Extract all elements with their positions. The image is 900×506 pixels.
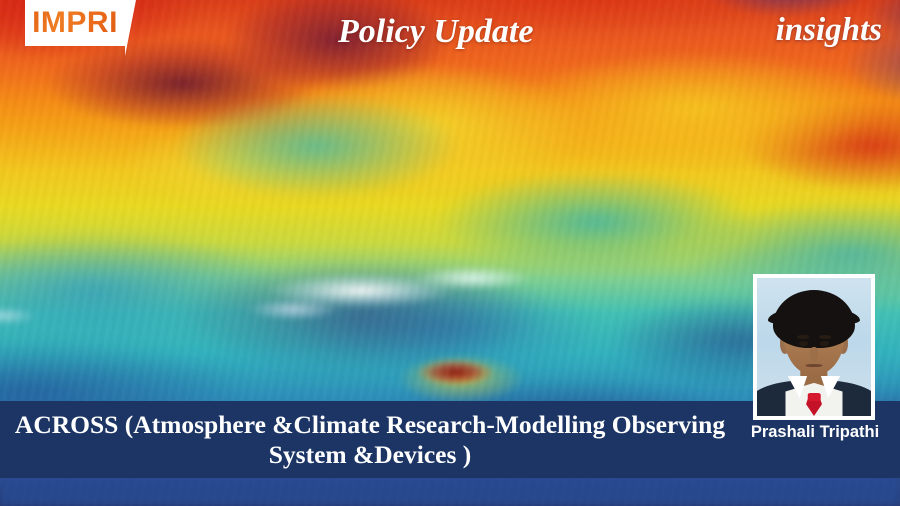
portrait-hair: [773, 290, 855, 348]
portrait-necktie-knot: [808, 393, 821, 401]
avatar: [757, 278, 871, 416]
portrait-eyebrow-left: [797, 335, 810, 339]
impri-logo-text: IMPRI: [25, 0, 125, 46]
page-title: Policy Update: [338, 13, 533, 51]
speech-bubble-tail-icon: [125, 0, 136, 56]
brand-label: insights: [776, 12, 882, 49]
portrait-nose: [810, 347, 818, 362]
portrait-eye-left: [799, 341, 808, 346]
banner-title: ACROSS (Atmosphere &Climate Research-Mod…: [0, 410, 740, 468]
policy-update-poster: IMPRI Policy Update insights ACROSS (Atm…: [0, 0, 900, 506]
impri-logo[interactable]: IMPRI: [25, 0, 125, 46]
speaker-photo-card: [753, 274, 875, 420]
speaker-name: Prashali Tripathi: [740, 422, 890, 443]
portrait-eyebrow-right: [819, 335, 832, 339]
